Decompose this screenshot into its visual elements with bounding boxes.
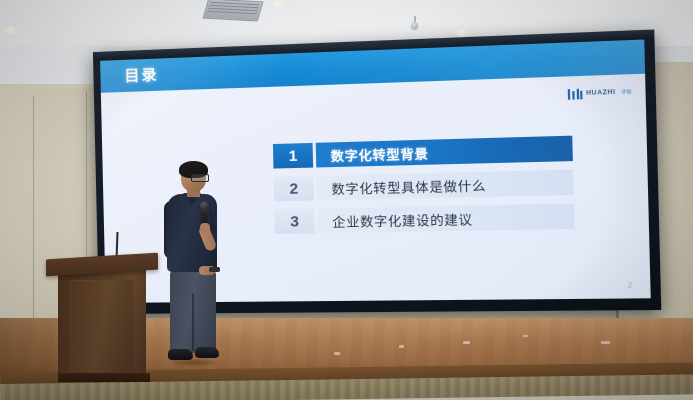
toc-item-number: 3: [274, 209, 314, 234]
toc-item-label: 企业数字化建设的建议: [317, 203, 574, 233]
downlight-icon: [270, 0, 285, 7]
floor-speck: [601, 341, 610, 344]
microphone-head-icon: [200, 201, 209, 210]
presentation-clicker-icon: [209, 267, 220, 272]
slide-page-number: 2: [628, 282, 633, 290]
slide-title: 目录: [124, 64, 159, 86]
downlight-icon: [455, 29, 468, 37]
downlight-icon: [4, 26, 17, 34]
podium-base: [58, 373, 150, 382]
floor-speck: [463, 341, 470, 344]
toc-item-1[interactable]: 1 数字化转型背景: [273, 136, 573, 169]
toc-item-2[interactable]: 2 数字化转型具体是做什么: [274, 170, 574, 202]
conference-hall-photo: 目录 HUAZHI 华智 1 数字化转型背景 2 数字化转型具体是做什么 3 企…: [0, 0, 693, 400]
huazhi-logo-mark-icon: [568, 89, 583, 100]
presenter: [155, 163, 233, 378]
presenter-right-shoe: [195, 347, 219, 358]
floor-speck: [523, 335, 528, 337]
toc-item-label: 数字化转型具体是做什么: [316, 170, 573, 201]
toc-item-label: 数字化转型背景: [316, 136, 573, 168]
sprinkler-head-icon: [411, 22, 418, 29]
logo-subtext: 华智: [621, 89, 632, 96]
logo-text: HUAZHI: [586, 90, 616, 97]
glasses-icon: [191, 174, 209, 182]
air-vent-icon: [203, 0, 264, 21]
toc-item-number: 1: [273, 143, 313, 169]
presenter-hand-holding-microphone: [200, 223, 210, 235]
presenter-left-shoe: [168, 349, 193, 360]
toc-item-number: 2: [274, 176, 314, 201]
toc-item-3[interactable]: 3 企业数字化建设的建议: [274, 203, 574, 234]
podium-front-panel: [70, 280, 133, 373]
company-logo: HUAZHI 华智: [568, 87, 632, 100]
floor-speck: [399, 345, 404, 348]
presenter-leg-split: [192, 293, 194, 351]
floor-speck: [334, 352, 340, 355]
toc-list: 1 数字化转型背景 2 数字化转型具体是做什么 3 企业数字化建设的建议: [273, 136, 575, 243]
